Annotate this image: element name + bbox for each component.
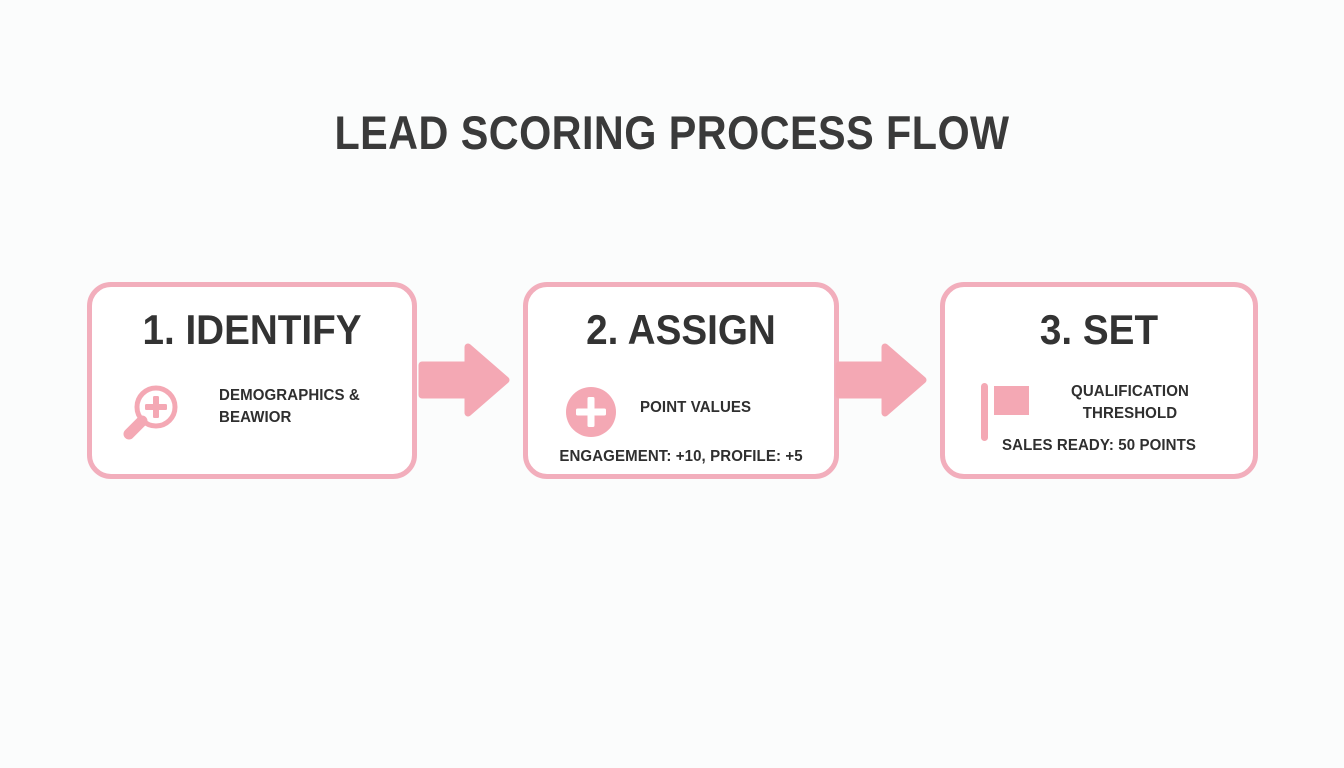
step-body: DEMOGRAPHICS & BEAWIOR <box>92 375 412 480</box>
step-card-set[interactable]: 3. SET QUALIFICATION THRESHOLD SALES REA… <box>940 282 1258 479</box>
step-text-line-1: POINT VALUES <box>640 397 751 419</box>
step-body: POINT VALUES ENGAGEMENT: +10, PROFILE: +… <box>528 375 834 480</box>
step-text-line-2: BEAWIOR <box>219 407 360 429</box>
step-title: 2. ASSIGN <box>540 309 822 351</box>
step-body: QUALIFICATION THRESHOLD SALES READY: 50 … <box>945 375 1253 480</box>
step-text-line-1: DEMOGRAPHICS & <box>219 385 360 407</box>
process-flow: 1. IDENTIFY DEMOGRAPHICS & BEAWIOR <box>87 282 1258 479</box>
step-detail: ENGAGEMENT: +10, PROFILE: +5 <box>537 448 825 466</box>
step-title: 1. IDENTIFY <box>105 309 399 351</box>
step-text-line-1: QUALIFICATION <box>1013 381 1248 403</box>
step-text: POINT VALUES <box>640 397 751 419</box>
arrow-right-icon <box>837 335 927 425</box>
step-text: DEMOGRAPHICS & BEAWIOR <box>219 385 360 429</box>
step-card-assign[interactable]: 2. ASSIGN POINT VALUES ENGAGEMENT: +10, … <box>523 282 839 479</box>
step-title: 3. SET <box>957 309 1240 351</box>
plus-circle-icon <box>562 383 624 445</box>
page-title: LEAD SCORING PROCESS FLOW <box>81 108 1264 157</box>
step-text: QUALIFICATION THRESHOLD <box>1013 381 1248 425</box>
arrow-right-icon <box>420 335 510 425</box>
magnifier-plus-icon <box>120 381 182 443</box>
step-text-line-2: THRESHOLD <box>1013 403 1248 425</box>
step-detail: SALES READY: 50 POINTS <box>954 437 1244 455</box>
step-card-identify[interactable]: 1. IDENTIFY DEMOGRAPHICS & BEAWIOR <box>87 282 417 479</box>
